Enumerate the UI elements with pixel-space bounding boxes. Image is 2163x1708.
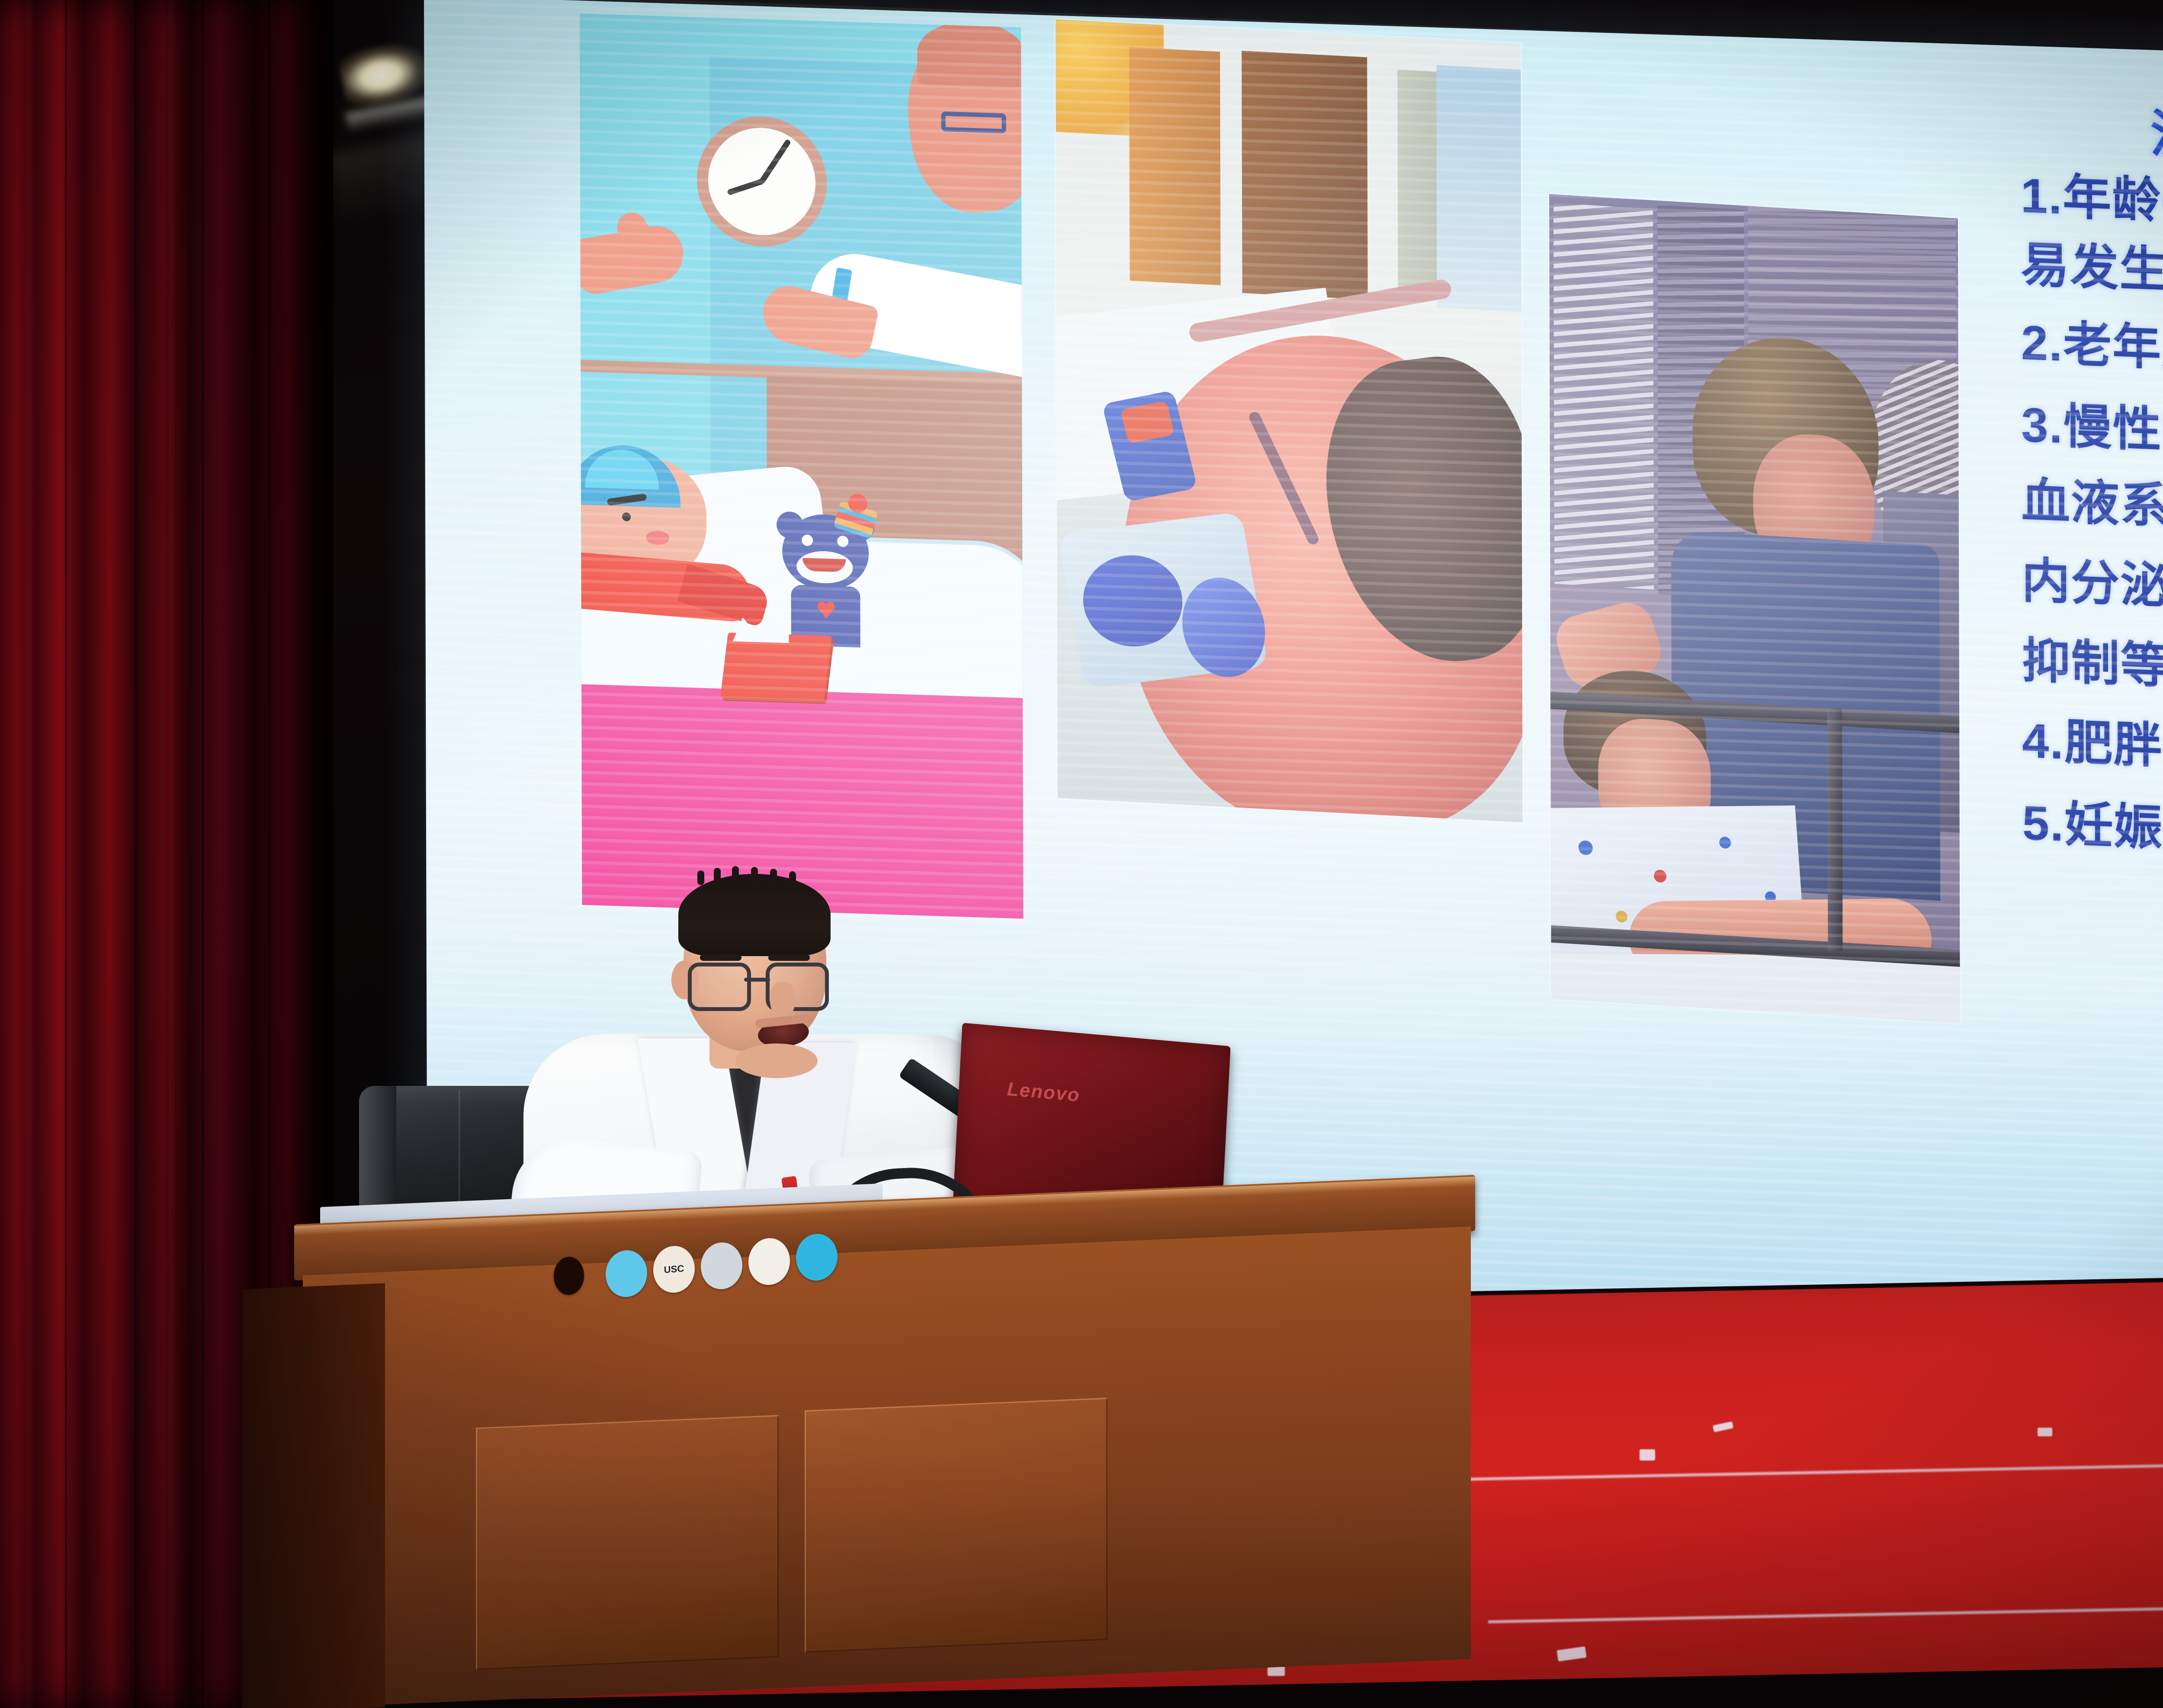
podium-panel-right bbox=[805, 1398, 1107, 1653]
podium-left-side bbox=[242, 1283, 385, 1708]
speaker-hair bbox=[678, 874, 831, 956]
hair-spike-3 bbox=[732, 866, 739, 881]
carpet-debris-3 bbox=[1640, 1449, 1655, 1461]
curtain-highlight-2 bbox=[169, 0, 175, 1708]
speaker-brow-left bbox=[700, 954, 741, 961]
speaker-chin bbox=[735, 1043, 818, 1078]
hair-spike-6 bbox=[789, 871, 796, 886]
speaker-nose bbox=[770, 982, 795, 1019]
curtain-fold-1 bbox=[65, 0, 67, 1708]
curtain-fold-2 bbox=[134, 0, 136, 1708]
hair-spike-2 bbox=[714, 868, 721, 883]
carpet-debris-2 bbox=[2038, 1428, 2052, 1436]
hair-spike-1 bbox=[697, 870, 704, 885]
wooden-podium: USC bbox=[294, 1224, 1475, 1708]
eyeglasses-bridge bbox=[744, 978, 770, 982]
lecture-stage-scene: 流感重症高危人群 1.年龄<5岁的儿童（年龄<2 易发生严重并发症） 2.老年人… bbox=[0, 0, 2163, 1708]
podium-panel-left bbox=[476, 1415, 779, 1670]
curtain-highlight-1 bbox=[26, 0, 32, 1708]
hair-spike-5 bbox=[770, 869, 777, 883]
hair-spike-4 bbox=[751, 867, 758, 882]
eyeglasses-icon-left bbox=[688, 963, 751, 1011]
curtain-fold-3 bbox=[202, 0, 204, 1708]
speaker-brow-right bbox=[768, 954, 810, 961]
